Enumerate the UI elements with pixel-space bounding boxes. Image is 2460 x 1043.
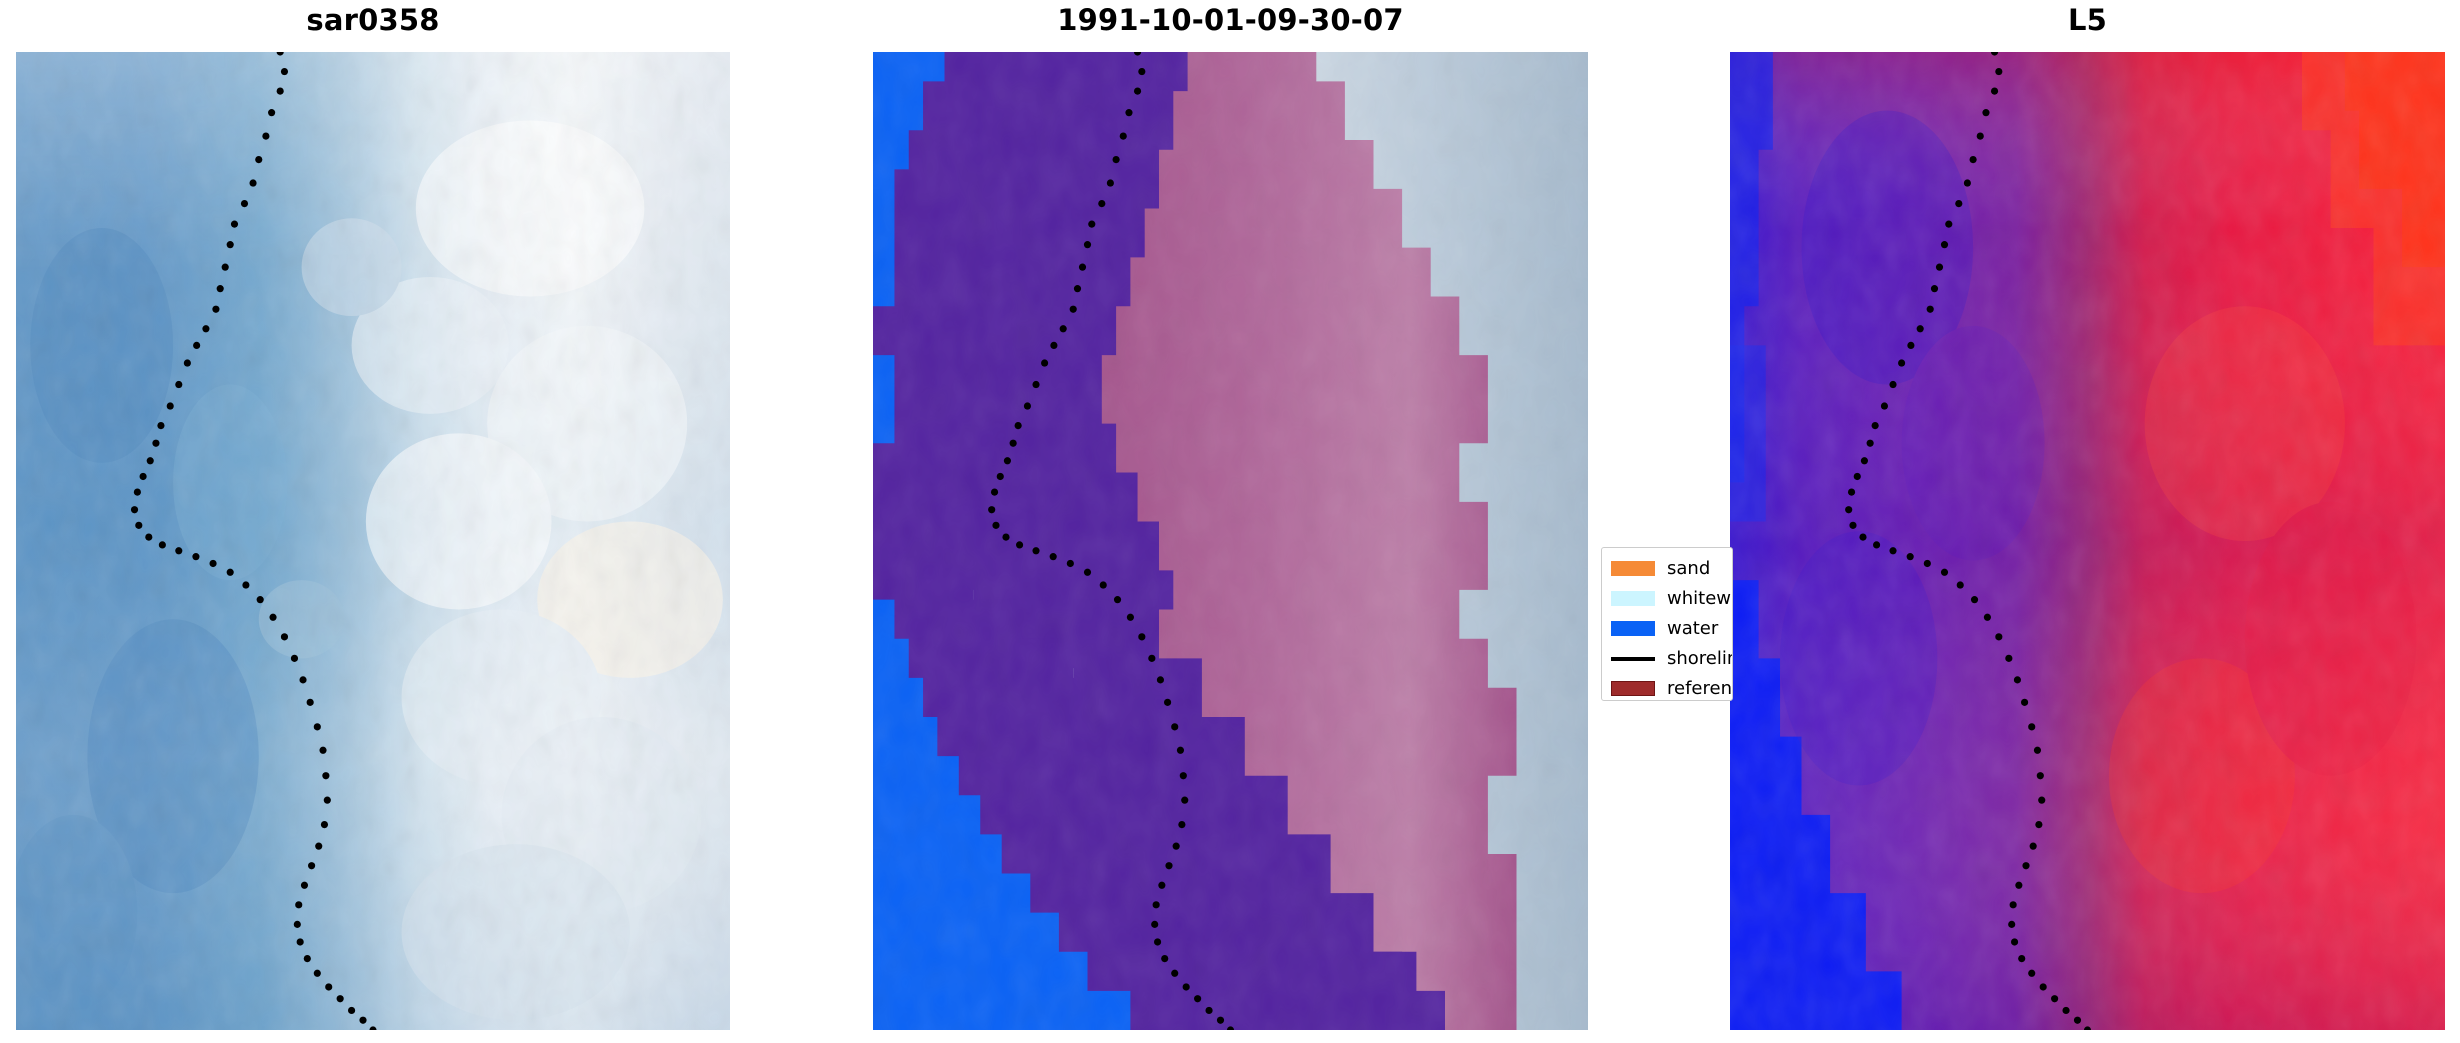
legend-item-shoreline[interactable]: shoreline — [1611, 649, 1733, 668]
shoreline-point — [1970, 156, 1977, 163]
shoreline-point — [1084, 569, 1091, 576]
shoreline-point — [1941, 241, 1948, 248]
shoreline-point — [131, 506, 138, 513]
shoreline-point — [269, 614, 276, 621]
shoreline-point — [1157, 676, 1164, 683]
shoreline-point — [1848, 488, 1855, 495]
shoreline-point — [2030, 843, 2037, 850]
shoreline-point — [1173, 843, 1180, 850]
shoreline-point — [299, 676, 306, 683]
shoreline-point — [1050, 342, 1057, 349]
shoreline-point — [291, 655, 298, 662]
shoreline-point — [997, 473, 1004, 480]
index-image-axes[interactable] — [1730, 52, 2445, 1030]
shoreline-point — [1889, 381, 1896, 388]
shoreline-point — [1032, 547, 1039, 554]
shoreline-point — [337, 995, 344, 1002]
shoreline-point — [222, 264, 229, 271]
shoreline-point — [319, 747, 326, 754]
legend-item-whitewater[interactable]: whitewater — [1611, 589, 1733, 608]
shoreline-point — [1024, 402, 1031, 409]
shoreline-point — [1982, 109, 1989, 116]
shoreline-point — [1165, 862, 1172, 869]
shoreline-point — [307, 699, 314, 706]
shoreline-point — [1991, 52, 1998, 56]
shoreline-point — [359, 1017, 366, 1024]
shoreline-point — [1070, 306, 1077, 313]
shoreline-point — [192, 553, 199, 560]
shoreline-point — [1138, 68, 1145, 75]
shoreline-point — [1977, 132, 1984, 139]
shoreline-point — [1205, 1007, 1212, 1014]
shoreline-point — [2074, 1017, 2081, 1024]
shoreline-point — [140, 473, 147, 480]
shoreline-point — [1088, 221, 1095, 228]
legend-item-label: reference — [1667, 679, 1733, 698]
shoreline-point — [268, 109, 275, 116]
shoreline-point — [1004, 457, 1011, 464]
shoreline-point — [1114, 596, 1121, 603]
shoreline-point — [1995, 633, 2002, 640]
shoreline-point — [1964, 179, 1971, 186]
shoreline-point — [2084, 1026, 2091, 1030]
shoreline-point — [1164, 699, 1171, 706]
shoreline-point — [1995, 68, 2002, 75]
shoreline-point — [152, 440, 159, 447]
shoreline-point — [1148, 655, 1155, 662]
shoreline-point — [1125, 109, 1132, 116]
shoreline-point — [2062, 1007, 2069, 1014]
shoreline-point — [209, 560, 216, 567]
shoreline-point — [1158, 882, 1165, 889]
shoreline-point — [2028, 723, 2035, 730]
shoreline-point — [1050, 553, 1057, 560]
shoreline-point — [175, 547, 182, 554]
panel-title-0: sar0358 — [16, 0, 730, 40]
shoreline-point — [294, 921, 301, 928]
shoreline-point — [2035, 821, 2042, 828]
shoreline-point — [147, 457, 154, 464]
legend-item-label: sand — [1667, 559, 1710, 578]
shoreline-point — [1060, 325, 1067, 332]
shoreline-point — [1032, 381, 1039, 388]
shoreline-point — [2014, 676, 2021, 683]
shoreline-point — [1107, 179, 1114, 186]
shoreline-point — [1867, 440, 1874, 447]
shoreline-point — [1889, 547, 1896, 554]
shoreline-point — [1084, 241, 1091, 248]
shoreline-point — [1015, 422, 1022, 429]
shoreline-point — [217, 285, 224, 292]
panel-title-1: 1991-10-01-09-30-07 — [873, 0, 1588, 40]
shoreline-point — [277, 88, 284, 95]
shoreline-point — [2011, 938, 2018, 945]
shoreline-point — [1016, 541, 1023, 548]
shoreline-point — [992, 522, 999, 529]
shoreline-point — [227, 569, 234, 576]
legend-item-sand[interactable]: sand — [1611, 559, 1710, 578]
figure-canvas: sar0358 — [0, 0, 2460, 1043]
shoreline-point — [2010, 901, 2017, 908]
shoreline-point — [2022, 862, 2029, 869]
shoreline-point — [1924, 560, 1931, 567]
legend-color-swatch — [1611, 591, 1655, 606]
shoreline-point — [1134, 88, 1141, 95]
shoreline-point — [1002, 533, 1009, 540]
shoreline-point — [1849, 522, 1856, 529]
shoreline-point — [159, 541, 166, 548]
rgb-image-axes[interactable] — [16, 52, 730, 1030]
shoreline-point — [1178, 821, 1185, 828]
shoreline-point — [1010, 440, 1017, 447]
shoreline-point — [988, 506, 995, 513]
shoreline-point — [167, 402, 174, 409]
shoreline-point — [2040, 983, 2047, 990]
shoreline-point — [314, 723, 321, 730]
legend-item-water[interactable]: water — [1611, 619, 1718, 638]
shoreline-point — [1859, 533, 1866, 540]
classified-image-axes[interactable] — [873, 52, 1588, 1030]
legend-color-swatch — [1611, 681, 1655, 696]
shoreline-point — [1194, 995, 1201, 1002]
shoreline-point — [315, 843, 322, 850]
shoreline-point — [1171, 723, 1178, 730]
shoreline-point — [2034, 747, 2041, 754]
panel-title-2: L5 — [1730, 0, 2445, 40]
shoreline-point — [2028, 970, 2035, 977]
shoreline-point — [262, 132, 269, 139]
shoreline-point — [301, 882, 308, 889]
shoreline-point — [1931, 285, 1938, 292]
detected-shoreline — [16, 52, 730, 1030]
shoreline-point — [1941, 569, 1948, 576]
shoreline-point — [2037, 772, 2044, 779]
shoreline-point — [2015, 882, 2022, 889]
legend-color-swatch — [1611, 561, 1655, 576]
shoreline-point — [1881, 402, 1888, 409]
shoreline-point — [1854, 473, 1861, 480]
shoreline-point — [1872, 422, 1879, 429]
shoreline-point — [1927, 306, 1934, 313]
shoreline-point — [1971, 596, 1978, 603]
shoreline-point — [2005, 655, 2012, 662]
shoreline-point — [1079, 264, 1086, 271]
shoreline-point — [2008, 921, 2015, 928]
shoreline-point — [241, 200, 248, 207]
classification-legend[interactable]: sandwhitewaterwatershorelinereference — [1601, 547, 1733, 701]
rgb-image-panel[interactable]: sar0358 — [16, 0, 730, 1030]
shoreline-point — [1873, 541, 1880, 548]
shoreline-point — [1154, 938, 1161, 945]
shoreline-point — [322, 772, 329, 779]
shoreline-point — [1861, 457, 1868, 464]
shoreline-point — [1041, 359, 1048, 366]
shoreline-point — [175, 381, 182, 388]
classified-image-panel[interactable]: 1991-10-01-09-30-07 — [873, 0, 1588, 1030]
shoreline-point — [1180, 772, 1187, 779]
shoreline-point — [308, 862, 315, 869]
shoreline-point — [2051, 995, 2058, 1002]
shoreline-point — [157, 422, 164, 429]
shoreline-point — [1074, 285, 1081, 292]
shoreline-point — [1945, 221, 1952, 228]
shoreline-point — [242, 581, 249, 588]
shoreline-point — [193, 342, 200, 349]
shoreline-point — [1957, 581, 1964, 588]
shoreline-point — [1127, 614, 1134, 621]
shoreline-point — [2018, 955, 2025, 962]
shoreline-point — [135, 522, 142, 529]
shoreline-point — [1917, 325, 1924, 332]
shoreline-point — [1907, 553, 1914, 560]
shoreline-point — [348, 1007, 355, 1014]
shoreline-point — [1217, 1017, 1224, 1024]
shoreline-point — [249, 179, 256, 186]
shoreline-point — [1161, 955, 1168, 962]
shoreline-point — [134, 488, 141, 495]
shoreline-point — [369, 1026, 376, 1030]
shoreline-point — [1151, 921, 1158, 928]
legend-item-label: whitewater — [1667, 589, 1733, 608]
shoreline-point — [281, 68, 288, 75]
shoreline-point — [1183, 983, 1190, 990]
shoreline-point — [277, 52, 284, 56]
shoreline-point — [145, 533, 152, 540]
shoreline-point — [231, 221, 238, 228]
shoreline-point — [255, 156, 262, 163]
shoreline-point — [991, 488, 998, 495]
shoreline-point — [1134, 52, 1141, 56]
shoreline-point — [1181, 797, 1188, 804]
shoreline-point — [304, 955, 311, 962]
shoreline-point — [1177, 747, 1184, 754]
shoreline-point — [321, 821, 328, 828]
shoreline-point — [257, 596, 264, 603]
shoreline-point — [1120, 132, 1127, 139]
shoreline-point — [1845, 506, 1852, 513]
legend-item-reference[interactable]: reference — [1611, 679, 1733, 698]
shoreline-point — [1100, 581, 1107, 588]
shoreline-point — [1153, 901, 1160, 908]
shoreline-point — [295, 901, 302, 908]
shoreline-point — [297, 938, 304, 945]
shoreline-point — [325, 983, 332, 990]
shoreline-point — [1984, 614, 1991, 621]
shoreline-point — [324, 797, 331, 804]
shoreline-point — [2021, 699, 2028, 706]
shoreline-point — [1907, 342, 1914, 349]
shoreline-point — [1138, 633, 1145, 640]
legend-line-swatch — [1611, 657, 1655, 661]
shoreline-point — [184, 359, 191, 366]
detected-shoreline — [1730, 52, 2445, 1030]
index-image-panel[interactable]: L5 — [1730, 0, 2445, 1030]
shoreline-point — [1171, 970, 1178, 977]
shoreline-point — [281, 633, 288, 640]
shoreline-point — [1098, 200, 1105, 207]
shoreline-point — [227, 241, 234, 248]
detected-shoreline — [873, 52, 1588, 1030]
legend-item-label: water — [1667, 619, 1718, 638]
shoreline-point — [1113, 156, 1120, 163]
shoreline-point — [1227, 1026, 1234, 1030]
shoreline-point — [1955, 200, 1962, 207]
shoreline-point — [1936, 264, 1943, 271]
shoreline-point — [1991, 88, 1998, 95]
shoreline-point — [2038, 797, 2045, 804]
legend-item-label: shoreline — [1667, 649, 1733, 668]
shoreline-point — [202, 325, 209, 332]
shoreline-point — [314, 970, 321, 977]
legend-color-swatch — [1611, 621, 1655, 636]
shoreline-point — [1067, 560, 1074, 567]
shoreline-point — [212, 306, 219, 313]
shoreline-point — [1898, 359, 1905, 366]
